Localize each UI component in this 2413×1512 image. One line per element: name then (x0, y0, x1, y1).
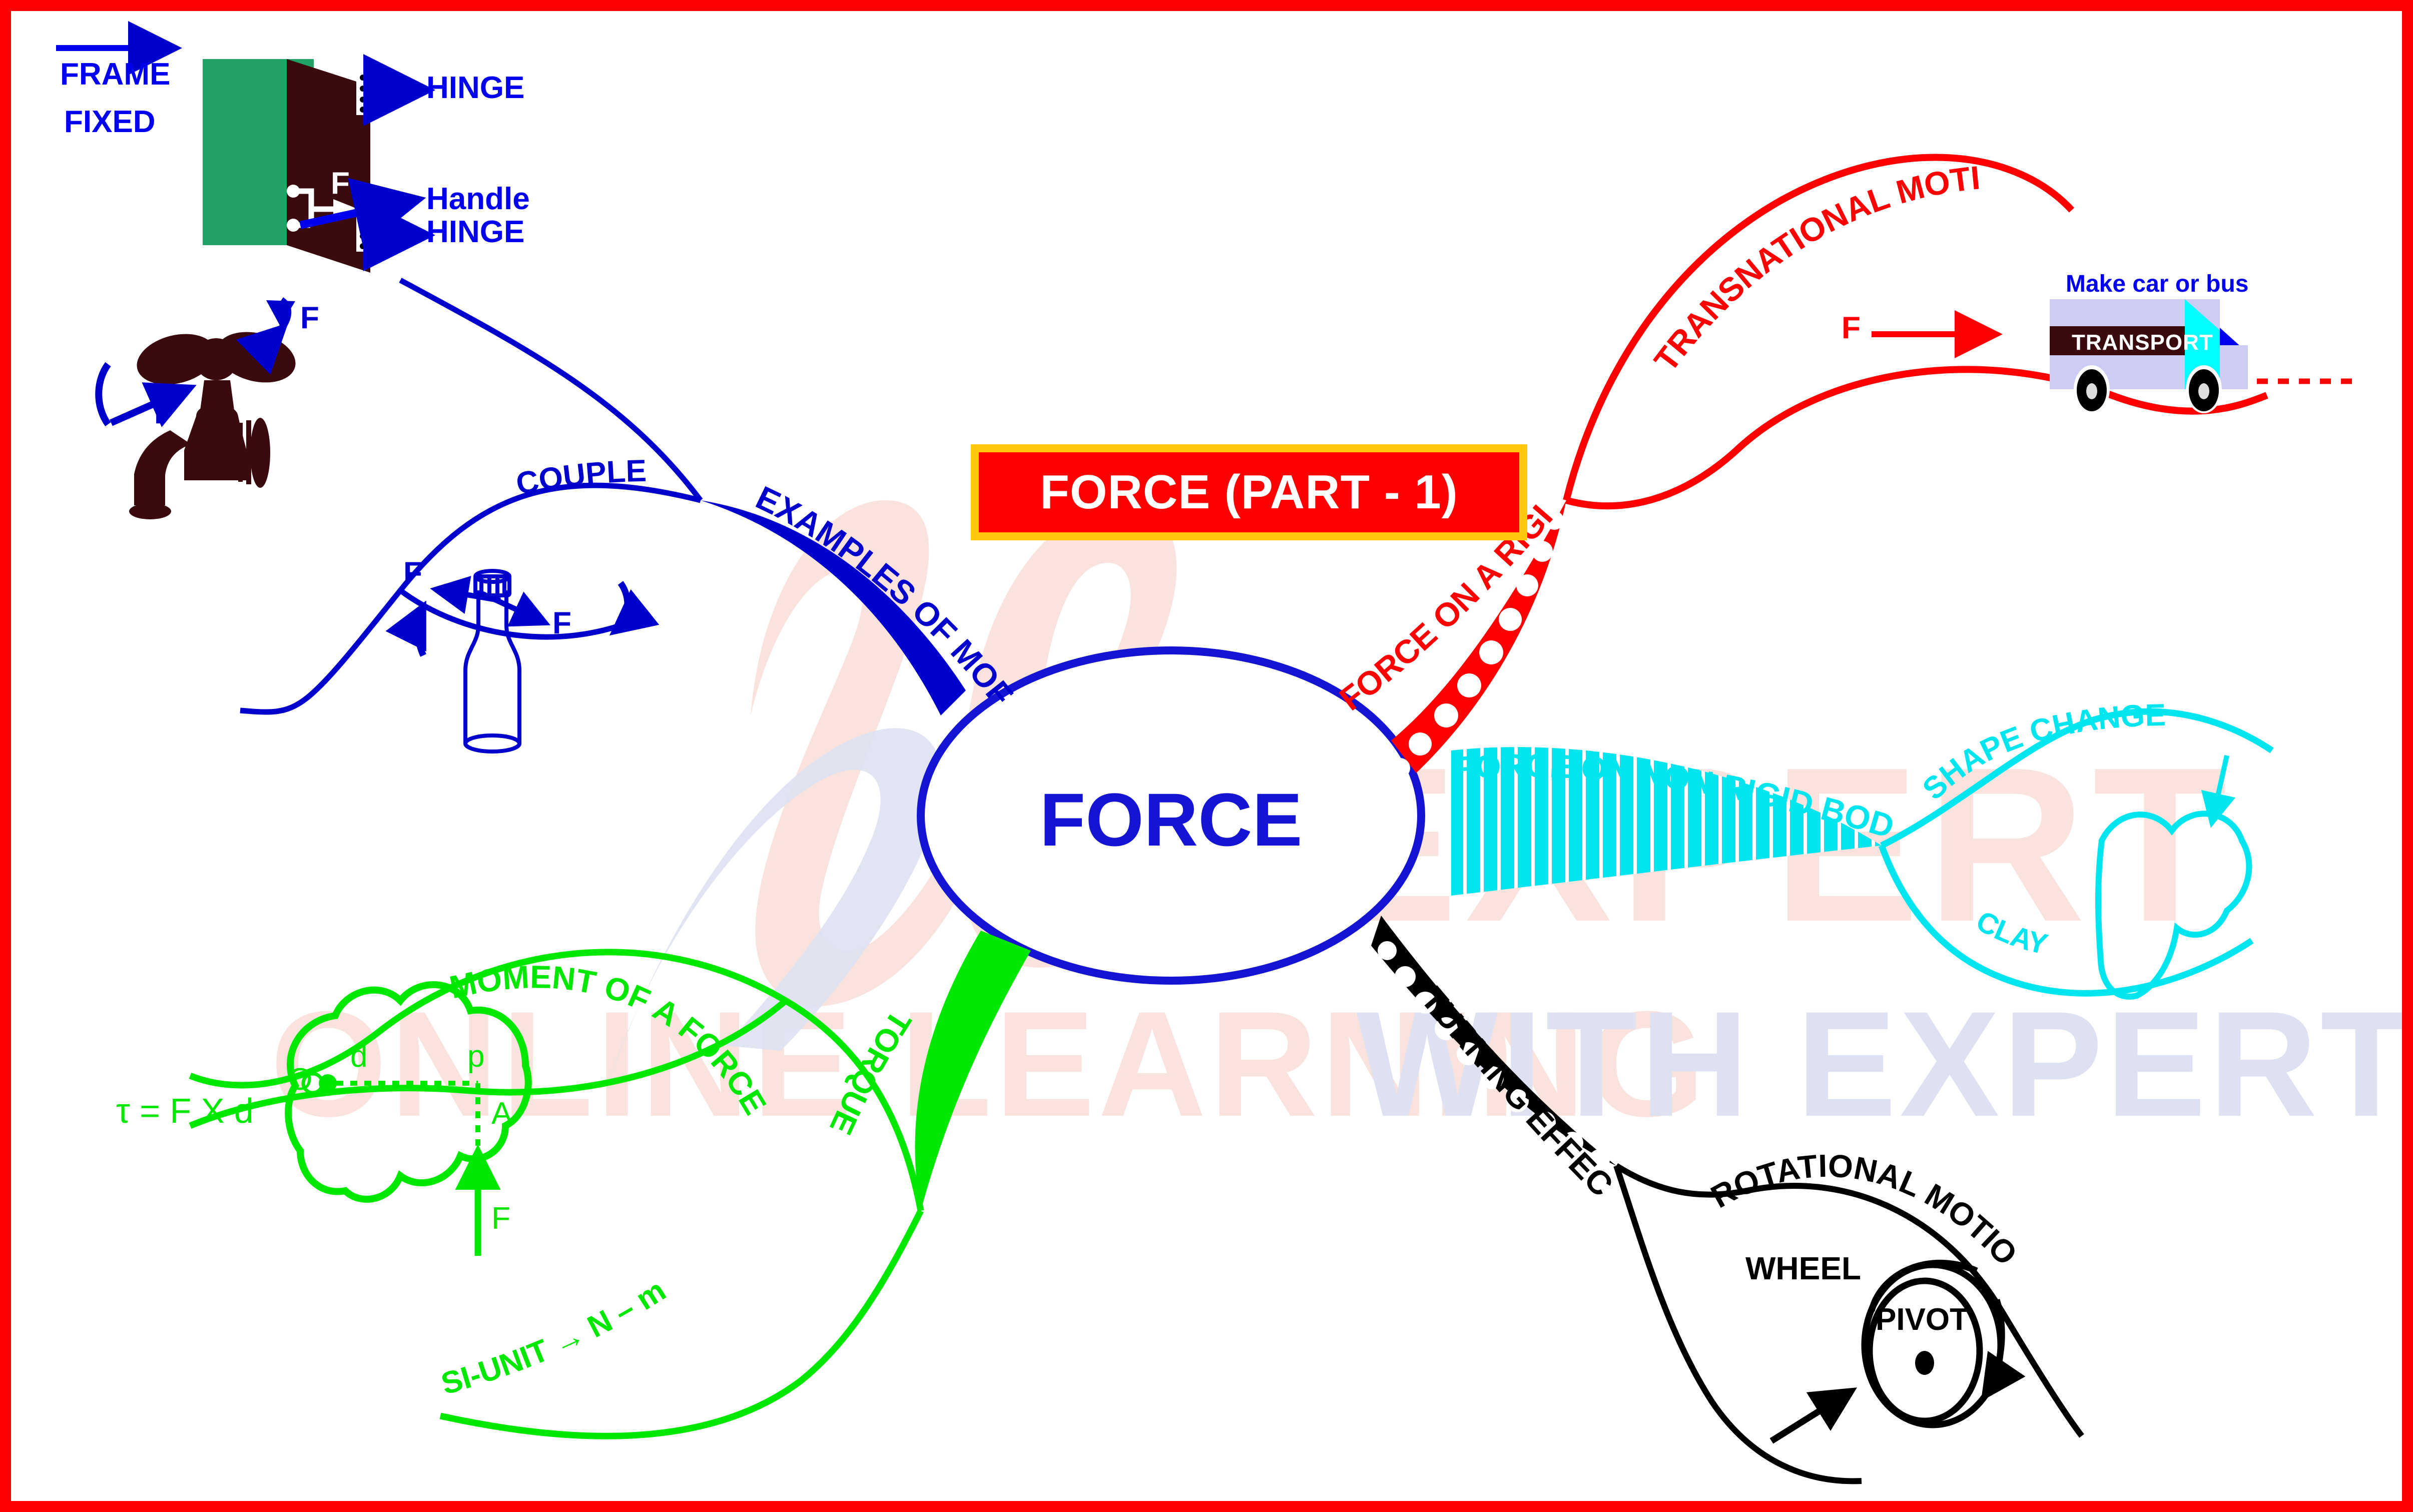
label-wheel: WHEEL (1745, 1250, 1861, 1287)
label-torque-dim-d: d (350, 1039, 367, 1074)
clay-blob-icon (2098, 814, 2249, 997)
pivot-center-dot (1915, 1351, 1934, 1375)
label-frame-fixed: FRAME (60, 60, 170, 90)
label-bottle-force-left: F (403, 555, 422, 591)
branch-label-torque: TORQUE (823, 1004, 918, 1140)
sub-label-si-unit: SI-UNIT → N – m (437, 1273, 672, 1401)
label-frame-fixed-2: FIXED (64, 104, 156, 140)
clay-force-arrow (2212, 755, 2227, 823)
wheel-diagram (1771, 1263, 2002, 1441)
mindmap-canvas: EXPERT ONLINE LEARNING WITH EXPERTS (0, 0, 2413, 1512)
label-handle: Handle (426, 181, 530, 217)
label-hinge-bottom: HINGE (426, 214, 524, 250)
page-title: FORCE (PART - 1) (1040, 465, 1458, 520)
sub-label-clay: CLAY (1971, 905, 2051, 961)
bottle-diagram (418, 571, 628, 751)
tap-force-left-arrow (111, 388, 190, 423)
branch-couple-line (240, 485, 701, 712)
clay-diagram (2098, 755, 2249, 997)
label-tap-force-top: F (300, 300, 319, 336)
label-truck-force: F (1842, 310, 1861, 346)
tap-diagram (99, 300, 301, 519)
label-truck-body-text: TRANSPORT (2072, 330, 2213, 355)
bottle-moment-arc-left (418, 606, 424, 655)
tap-force-left-arc (99, 364, 108, 424)
label-bottle-force-right: F (552, 605, 571, 641)
sub-label-couple: COUPLE (513, 454, 647, 502)
page-title-banner: FORCE (PART - 1) (971, 444, 1527, 540)
label-torque-point-a: A (491, 1096, 512, 1131)
label-torque-point-p: p (467, 1039, 484, 1074)
label-pivot: PIVOT (1876, 1302, 1969, 1337)
label-hinge-top: HINGE (426, 70, 524, 106)
branch-wheel-line (1616, 1166, 1862, 1481)
door-force-label: F (331, 166, 350, 201)
central-node-label: FORCE (1040, 778, 1303, 862)
branch-clay-line (1882, 846, 2252, 993)
branch-torque[interactable] (915, 931, 1031, 1211)
label-truck-caption: Make car or bus (2066, 270, 2248, 298)
branch-si-unit-line (440, 1211, 921, 1436)
wheel-force-arrow (1771, 1391, 1852, 1441)
label-torque-force: F (491, 1201, 510, 1236)
label-tap-force-left: F (154, 395, 173, 431)
label-torque-point-o: O (288, 1062, 312, 1097)
diagram-layer: FORCE EXAMPLES OF MOF COUPLE (0, 0, 2413, 1512)
label-torque-formula: τ = F X d (116, 1091, 254, 1131)
bottle-force-right-arrow (480, 593, 545, 623)
branch-truck-line (1566, 369, 2267, 506)
